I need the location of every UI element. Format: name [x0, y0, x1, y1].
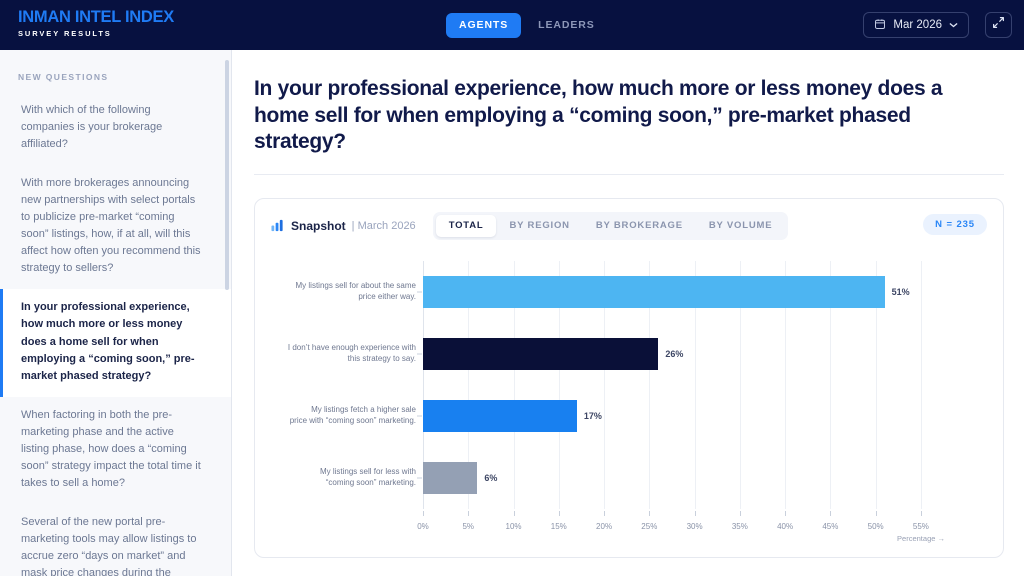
top-bar: INMAN INTEL INDEX SURVEY RESULTS AGENTS … — [0, 0, 1024, 50]
x-axis-label: Percentage → — [897, 534, 945, 543]
x-axis-tick — [695, 511, 696, 516]
x-axis-tick — [921, 511, 922, 516]
x-axis-tick — [514, 511, 515, 516]
sidebar-section-title: NEW QUESTIONS — [0, 50, 231, 92]
x-axis-tick — [876, 511, 877, 516]
x-axis-tick-label: 0% — [417, 522, 429, 531]
main-content: In your professional experience, how muc… — [232, 50, 1024, 576]
x-axis-tick-label: 25% — [641, 522, 657, 531]
x-axis-tick-label: 40% — [777, 522, 793, 531]
expand-button[interactable] — [985, 12, 1012, 38]
questions-sidebar[interactable]: NEW QUESTIONS With which of the followin… — [0, 50, 232, 576]
x-axis-tick-label: 45% — [822, 522, 838, 531]
chevron-down-icon — [949, 19, 958, 31]
x-axis-tick — [740, 511, 741, 516]
snapshot-card: Snapshot | March 2026 TOTAL BY REGION BY… — [254, 198, 1004, 558]
tab-by-region[interactable]: BY REGION — [496, 215, 582, 237]
page-title: In your professional experience, how muc… — [254, 76, 984, 156]
tab-agents[interactable]: AGENTS — [446, 13, 521, 38]
chart-category-label: My listings fetch a higher sale price wi… — [268, 405, 416, 427]
chart-bar-row[interactable]: I don’t have enough experience with this… — [423, 338, 939, 371]
y-axis-tick — [417, 415, 422, 416]
x-axis-tick — [468, 511, 469, 516]
sidebar-item-question-5[interactable]: Several of the new portal pre-marketing … — [0, 504, 231, 576]
chart-bar[interactable] — [423, 462, 477, 495]
y-axis-tick — [417, 353, 422, 354]
x-axis-tick-label: 55% — [913, 522, 929, 531]
chart-bar[interactable] — [423, 276, 885, 309]
sidebar-scrollbar[interactable] — [225, 60, 229, 290]
y-axis-tick — [417, 291, 422, 292]
x-axis-tick — [785, 511, 786, 516]
logo-subtitle: SURVEY RESULTS — [18, 30, 174, 38]
chart-category-label: My listings sell for less with “coming s… — [268, 467, 416, 489]
date-picker[interactable]: Mar 2026 — [863, 12, 969, 38]
expand-icon — [992, 16, 1005, 34]
x-axis-tick-label: 20% — [596, 522, 612, 531]
bar-chart-icon — [271, 219, 284, 232]
tab-by-brokerage[interactable]: BY BROKERAGE — [583, 215, 696, 237]
sidebar-item-question-1[interactable]: With which of the following companies is… — [0, 92, 231, 165]
card-header: Snapshot | March 2026 TOTAL BY REGION BY… — [271, 213, 987, 239]
x-axis-tick-label: 50% — [868, 522, 884, 531]
chart-area: 0%5%10%15%20%25%30%35%40%45%50%55%Percen… — [271, 251, 987, 547]
x-axis-tick — [649, 511, 650, 516]
sidebar-item-question-2[interactable]: With more brokerages announcing new part… — [0, 165, 231, 289]
chart-bar-value: 6% — [484, 473, 497, 483]
app-logo[interactable]: INMAN INTEL INDEX SURVEY RESULTS — [18, 9, 174, 37]
audience-tabs: AGENTS LEADERS — [446, 13, 608, 38]
snapshot-date: | March 2026 — [352, 220, 416, 232]
x-axis-tick — [559, 511, 560, 516]
snapshot-label: Snapshot — [291, 219, 346, 233]
sidebar-item-question-4[interactable]: When factoring in both the pre-marketing… — [0, 397, 231, 504]
breakdown-tabs: TOTAL BY REGION BY BROKERAGE BY VOLUME — [433, 212, 789, 240]
x-axis-tick — [830, 511, 831, 516]
chart-bar-row[interactable]: My listings sell for less with “coming s… — [423, 462, 939, 495]
x-axis-tick — [604, 511, 605, 516]
chart-plot: 0%5%10%15%20%25%30%35%40%45%50%55%Percen… — [423, 261, 939, 509]
x-axis-tick — [423, 511, 424, 516]
tab-total[interactable]: TOTAL — [436, 215, 497, 237]
sample-size-badge: N = 235 — [923, 214, 987, 235]
chart-bar[interactable] — [423, 338, 658, 371]
chart-bar-value: 17% — [584, 411, 602, 421]
chart-category-label: My listings sell for about the same pric… — [268, 281, 416, 303]
x-axis-tick-label: 35% — [732, 522, 748, 531]
chart-bar-row[interactable]: My listings sell for about the same pric… — [423, 276, 939, 309]
chart-bar[interactable] — [423, 400, 577, 433]
chart-bar-row[interactable]: My listings fetch a higher sale price wi… — [423, 400, 939, 433]
y-axis-tick — [417, 477, 422, 478]
calendar-icon — [874, 18, 886, 33]
date-picker-value: Mar 2026 — [893, 19, 942, 31]
chart-category-label: I don’t have enough experience with this… — [268, 343, 416, 365]
x-axis-tick-label: 10% — [506, 522, 522, 531]
chart-bar-value: 26% — [665, 349, 683, 359]
tab-leaders[interactable]: LEADERS — [525, 13, 607, 38]
sidebar-item-question-3[interactable]: In your professional experience, how muc… — [0, 289, 231, 396]
logo-title: INMAN INTEL INDEX — [18, 9, 174, 26]
chart-bar-value: 51% — [892, 287, 910, 297]
x-axis-tick-label: 5% — [462, 522, 474, 531]
x-axis-tick-label: 15% — [551, 522, 567, 531]
title-divider — [254, 174, 1004, 175]
x-axis-tick-label: 30% — [687, 522, 703, 531]
tab-by-volume[interactable]: BY VOLUME — [696, 215, 786, 237]
